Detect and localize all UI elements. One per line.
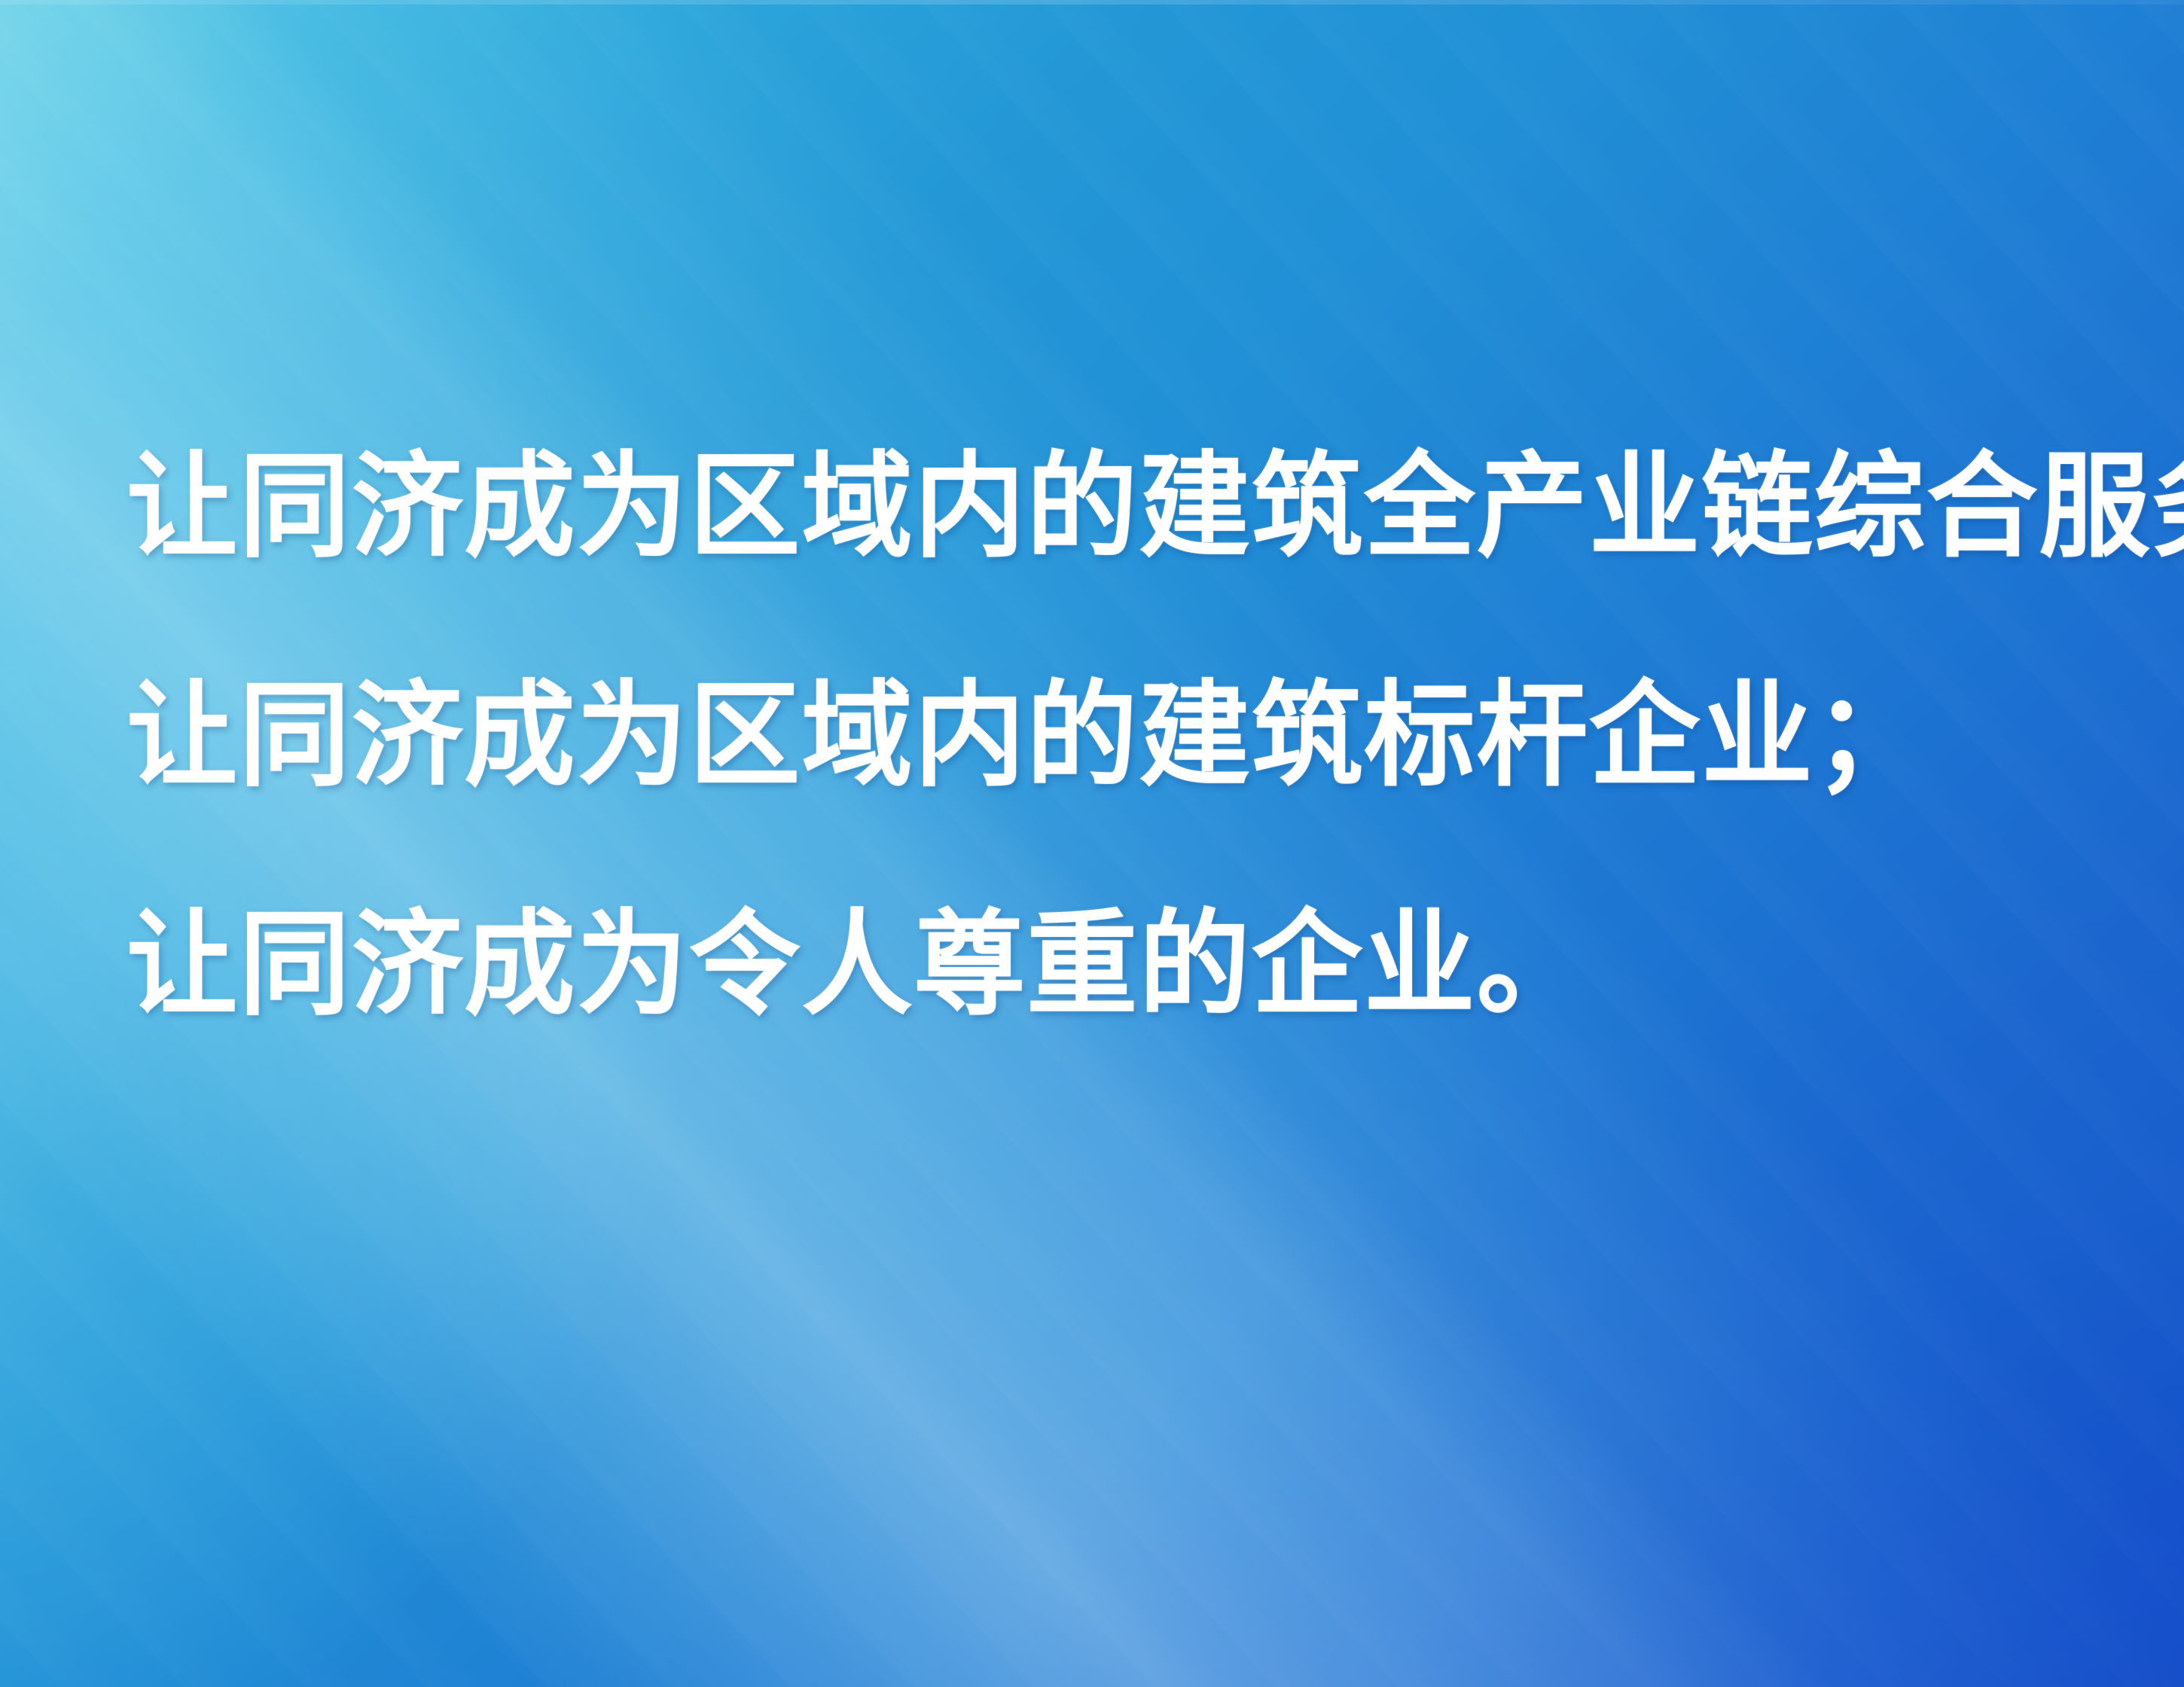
slogan-text-block: 让同济成为区域内的建筑全产业链综合服务商； 让同济成为区域内的建筑标杆企业； 让… [127,449,2100,1021]
slogan-line-3: 让同济成为令人尊重的企业。 [127,907,2040,1021]
slogan-line-1: 让同济成为区域内的建筑全产业链综合服务商； [127,449,2040,563]
slide-top-edge [0,0,2184,5]
slogan-line-2: 让同济成为区域内的建筑标杆企业； [127,678,2040,792]
slide-canvas: 让同济成为区域内的建筑全产业链综合服务商； 让同济成为区域内的建筑标杆企业； 让… [0,0,2184,1687]
